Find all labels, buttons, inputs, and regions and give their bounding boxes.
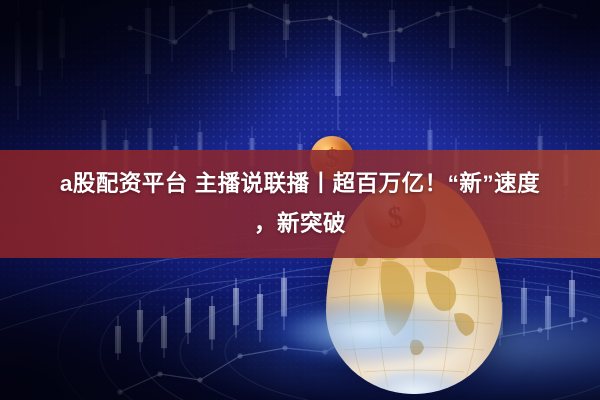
promo-banner-image: $ xyxy=(0,0,600,400)
headline-banner: a股配资平台 主播说联播丨超百万亿！“新”速度 ，新突破 xyxy=(0,150,600,258)
globe-base-glow xyxy=(228,288,504,376)
headline-line-1: a股配资平台 主播说联播丨超百万亿！“新”速度 xyxy=(60,164,540,204)
headline-line-2: ，新突破 xyxy=(254,204,346,244)
